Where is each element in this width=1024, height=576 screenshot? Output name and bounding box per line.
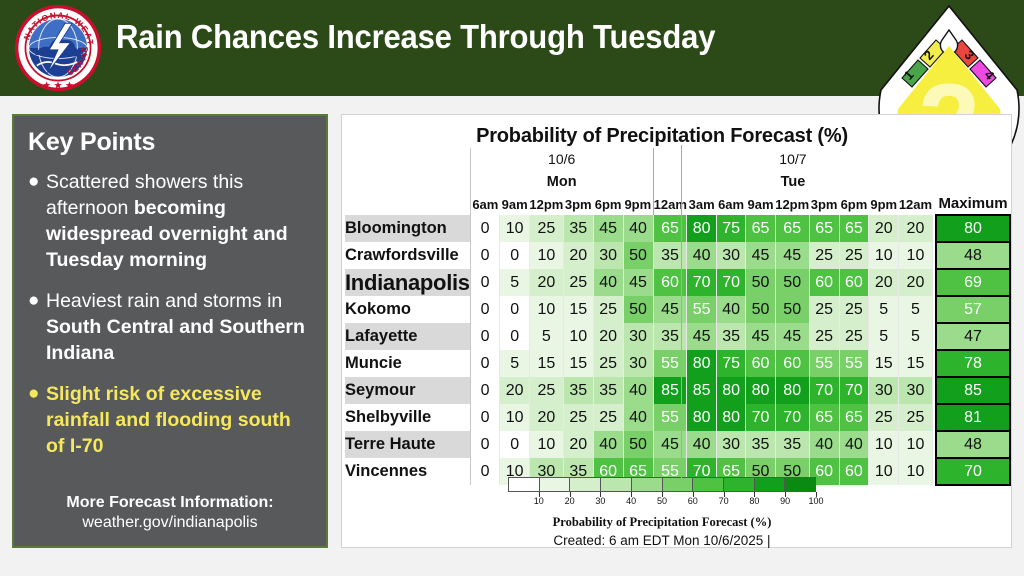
hour-header-6pm: 6pm: [593, 193, 623, 215]
pop-cell: 25: [593, 350, 623, 377]
table-row: Muncie051515253055807560605555151578: [345, 350, 1010, 377]
pop-cell: 25: [839, 242, 869, 269]
city-label-lafayette: Lafayette: [345, 323, 470, 350]
pop-cell: 85: [687, 377, 716, 404]
pop-cell: 0: [500, 296, 529, 323]
hour-header-3am: 3am: [687, 193, 716, 215]
hour-header-3pm: 3pm: [809, 193, 839, 215]
pop-cell: 5: [529, 323, 563, 350]
city-label-indianapolis: Indianapolis: [345, 269, 470, 296]
colorbar-swatch-10: [540, 478, 571, 491]
city-label-shelbyville: Shelbyville: [345, 404, 470, 431]
pop-cell: 10: [529, 431, 563, 458]
pop-cell: 60: [839, 269, 869, 296]
pop-cell: 40: [623, 377, 653, 404]
pop-cell: 0: [470, 242, 500, 269]
pop-cell: 50: [623, 431, 653, 458]
pop-cell: 45: [746, 242, 775, 269]
colorbar-swatch-30: [601, 478, 632, 491]
hour-header-6pm: 6pm: [839, 193, 869, 215]
pop-cell: 30: [593, 242, 623, 269]
created-timestamp: Created: 6 am EDT Mon 10/6/2025 |: [342, 533, 982, 548]
colorbar-swatch-80: [755, 478, 786, 491]
hour-header-12am: 12am: [899, 193, 933, 215]
pop-cell: 0: [500, 431, 529, 458]
pop-cell: 20: [869, 215, 899, 242]
pop-cell: 35: [563, 215, 593, 242]
key-point-text: Scattered showers this afternoon becomin…: [46, 169, 312, 273]
pop-table-title: Probability of Precipitation Forecast (%…: [342, 125, 982, 148]
colorbar-ticks: 102030405060708090100: [508, 492, 816, 506]
pop-cell: 40: [593, 431, 623, 458]
pop-cell: 45: [746, 323, 775, 350]
key-points-footer: More Forecast Information: weather.gov/i…: [14, 494, 326, 532]
pop-cell: 15: [529, 350, 563, 377]
colorbar-section: 102030405060708090100 Probability of Pre…: [342, 477, 982, 548]
pop-cell: 35: [563, 377, 593, 404]
pop-cell: 10: [869, 242, 899, 269]
pop-cell: 60: [809, 269, 839, 296]
pop-cell: 50: [775, 269, 809, 296]
pop-cell: 10: [563, 323, 593, 350]
pop-cell: 65: [775, 215, 809, 242]
pop-table-head: 10/610/7 MonTue 6am9am12pm3pm6pm9pm12am3…: [345, 148, 1010, 215]
pop-cell: 50: [746, 269, 775, 296]
pop-cell: 40: [716, 296, 745, 323]
pop-cell: 40: [839, 431, 869, 458]
key-point-item: ●Scattered showers this afternoon becomi…: [28, 169, 312, 273]
day-name-header: Tue: [653, 170, 932, 193]
pop-cell: 75: [716, 215, 745, 242]
day-divider-line: [681, 145, 682, 485]
pop-cell: 65: [839, 404, 869, 431]
pop-cell: 20: [593, 323, 623, 350]
weather-gov-link[interactable]: weather.gov/indianapolis: [14, 514, 326, 532]
pop-cell: 45: [775, 242, 809, 269]
pop-cell: 80: [687, 350, 716, 377]
pop-cell: 10: [500, 215, 529, 242]
pop-cell: 0: [500, 242, 529, 269]
header-row-dates: 10/610/7: [345, 148, 1010, 170]
table-row: Seymour0202535354085858080807070303085: [345, 377, 1010, 404]
pop-cell: 45: [687, 323, 716, 350]
colorbar-tick-30: 30: [595, 496, 605, 506]
pop-cell: 15: [563, 296, 593, 323]
pop-cell: 25: [839, 323, 869, 350]
maximum-cell: 48: [936, 242, 1010, 269]
hour-header-12pm: 12pm: [529, 193, 563, 215]
header-row-daynames: MonTue: [345, 170, 1010, 193]
colorbar-tick-20: 20: [565, 496, 575, 506]
maximum-cell: 57: [936, 296, 1010, 323]
pop-cell: 0: [470, 431, 500, 458]
pop-cell: 10: [899, 242, 933, 269]
pop-cell: 5: [869, 296, 899, 323]
table-corner-cell: [345, 170, 470, 193]
pop-table-body: Bloomington01025354540658075656565652020…: [345, 215, 1010, 485]
pop-cell: 35: [746, 431, 775, 458]
pop-cell: 25: [899, 404, 933, 431]
maximum-cell: 47: [936, 323, 1010, 350]
pop-cell: 80: [716, 404, 745, 431]
pop-cell: 25: [839, 296, 869, 323]
colorbar-swatch-90: [785, 478, 815, 491]
pop-cell: 80: [775, 377, 809, 404]
pop-cell: 55: [809, 350, 839, 377]
header-row-hours: 6am9am12pm3pm6pm9pm12am3am6am9am12pm3pm6…: [345, 193, 1010, 215]
key-points-title: Key Points: [28, 128, 312, 157]
more-forecast-information-label: More Forecast Information:: [14, 494, 326, 512]
pop-cell: 50: [775, 296, 809, 323]
bullet-icon: ●: [28, 288, 46, 366]
pop-cell: 20: [529, 269, 563, 296]
colorbar-tick-50: 50: [657, 496, 667, 506]
hour-header-9pm: 9pm: [869, 193, 899, 215]
pop-cell: 35: [593, 377, 623, 404]
city-label-crawfordsville: Crawfordsville: [345, 242, 470, 269]
pop-cell: 30: [899, 377, 933, 404]
maximum-cell: 78: [936, 350, 1010, 377]
pop-cell: 15: [899, 350, 933, 377]
day-name-header: Mon: [470, 170, 653, 193]
pop-cell: 0: [470, 350, 500, 377]
hour-header-9am: 9am: [500, 193, 529, 215]
maximum-cell: 48: [936, 431, 1010, 458]
pop-cell: 30: [623, 350, 653, 377]
key-point-text: Slight risk of excessive rainfall and fl…: [46, 381, 312, 459]
key-points-panel: Key Points ●Scattered showers this after…: [12, 114, 328, 548]
pop-cell: 60: [746, 350, 775, 377]
day-date-header: 10/7: [653, 148, 932, 170]
pop-cell: 80: [746, 377, 775, 404]
bullet-icon: ●: [28, 169, 46, 273]
pop-cell: 5: [899, 323, 933, 350]
pop-cell: 80: [687, 215, 716, 242]
pop-cell: 55: [839, 350, 869, 377]
pop-cell: 45: [775, 323, 809, 350]
pop-cell: 5: [500, 350, 529, 377]
pop-cell: 80: [687, 404, 716, 431]
table-row: Terre Haute00102040504540303535404010104…: [345, 431, 1010, 458]
pop-cell: 5: [899, 296, 933, 323]
pop-cell: 30: [869, 377, 899, 404]
pop-cell: 25: [529, 377, 563, 404]
pop-cell: 20: [529, 404, 563, 431]
pop-grid: 10/610/7 MonTue 6am9am12pm3pm6pm9pm12am3…: [345, 148, 1011, 486]
pop-cell: 55: [687, 296, 716, 323]
hour-header-9pm: 9pm: [623, 193, 653, 215]
colorbar-swatch-0: [509, 478, 540, 491]
pop-cell: 50: [623, 296, 653, 323]
colorbar-tick-70: 70: [719, 496, 729, 506]
pop-cell: 5: [500, 269, 529, 296]
pop-cell: 30: [716, 242, 745, 269]
pop-cell: 70: [746, 404, 775, 431]
colorbar-tick-80: 80: [749, 496, 759, 506]
pop-cell: 20: [869, 269, 899, 296]
key-points-list: ●Scattered showers this afternoon becomi…: [28, 169, 312, 459]
pop-cell: 20: [899, 269, 933, 296]
key-point-emphasis: becoming widespread overnight and Tuesda…: [46, 197, 288, 271]
maximum-header-spacer: [936, 170, 1010, 193]
colorbar-swatch-50: [663, 478, 694, 491]
pop-cell: 40: [809, 431, 839, 458]
pop-cell: 45: [623, 269, 653, 296]
nws-logo-icon: NATIONAL WEATHER SERVICE: [12, 4, 104, 92]
pop-cell: 75: [716, 350, 745, 377]
colorbar-tick-90: 90: [780, 496, 790, 506]
hour-header-3pm: 3pm: [563, 193, 593, 215]
maximum-cell: 80: [936, 215, 1010, 242]
pop-cell: 70: [775, 404, 809, 431]
table-row: Kokomo0010152550455540505025255557: [345, 296, 1010, 323]
pop-cell: 10: [529, 242, 563, 269]
colorbar-label: Probability of Precipitation Forecast (%…: [342, 515, 982, 530]
pop-cell: 10: [869, 431, 899, 458]
pop-cell: 25: [593, 296, 623, 323]
city-column-header: [345, 193, 470, 215]
pop-cell: 25: [809, 242, 839, 269]
pop-cell: 10: [529, 296, 563, 323]
key-point-emphasis: South Central and Southern Indiana: [46, 316, 305, 364]
pop-cell: 25: [809, 296, 839, 323]
pop-cell: 70: [687, 269, 716, 296]
pop-cell: 65: [809, 215, 839, 242]
hour-header-12pm: 12pm: [775, 193, 809, 215]
pop-table: 10/610/7 MonTue 6am9am12pm3pm6pm9pm12am3…: [345, 148, 1011, 486]
pop-cell: 25: [869, 404, 899, 431]
table-row: Crawfordsville00102030503540304545252510…: [345, 242, 1010, 269]
pop-cell: 35: [716, 323, 745, 350]
colorbar-swatch-20: [570, 478, 601, 491]
key-point-emphasis: Slight risk of excessive rainfall and fl…: [46, 383, 291, 457]
pop-cell: 0: [470, 377, 500, 404]
pop-cell: 25: [809, 323, 839, 350]
hour-header-6am: 6am: [716, 193, 745, 215]
pop-cell: 25: [563, 269, 593, 296]
pop-cell: 80: [716, 377, 745, 404]
hour-header-9am: 9am: [746, 193, 775, 215]
colorbar-swatch-40: [632, 478, 663, 491]
table-corner-cell: [345, 148, 470, 170]
pop-cell: 0: [470, 404, 500, 431]
pop-cell: 25: [593, 404, 623, 431]
pop-cell: 70: [839, 377, 869, 404]
pop-cell: 40: [623, 404, 653, 431]
city-label-seymour: Seymour: [345, 377, 470, 404]
table-row: Bloomington01025354540658075656565652020…: [345, 215, 1010, 242]
city-label-muncie: Muncie: [345, 350, 470, 377]
pop-cell: 5: [869, 323, 899, 350]
pop-cell: 15: [869, 350, 899, 377]
pop-cell: 20: [563, 242, 593, 269]
pop-cell: 40: [687, 431, 716, 458]
pop-cell: 25: [563, 404, 593, 431]
pop-cell: 20: [500, 377, 529, 404]
colorbar-tick-100: 100: [808, 496, 823, 506]
day-date-header: 10/6: [470, 148, 653, 170]
pop-cell: 25: [529, 215, 563, 242]
pop-cell: 0: [470, 296, 500, 323]
colorbar-tick-40: 40: [626, 496, 636, 506]
colorbar-gradient: [508, 477, 816, 492]
pop-cell: 0: [470, 215, 500, 242]
maximum-header-spacer: [936, 148, 1010, 170]
pop-cell: 65: [746, 215, 775, 242]
pop-cell: 40: [623, 215, 653, 242]
pop-cell: 40: [593, 269, 623, 296]
pop-cell: 20: [899, 215, 933, 242]
pop-cell: 60: [775, 350, 809, 377]
city-label-kokomo: Kokomo: [345, 296, 470, 323]
pop-cell: 15: [563, 350, 593, 377]
page-title: Rain Chances Increase Through Tuesday: [116, 18, 715, 56]
maximum-cell: 81: [936, 404, 1010, 431]
pop-cell: 70: [809, 377, 839, 404]
key-point-item: ●Heaviest rain and storms in South Centr…: [28, 288, 312, 366]
maximum-cell: 85: [936, 377, 1010, 404]
pop-cell: 30: [623, 323, 653, 350]
pop-cell: 30: [716, 431, 745, 458]
pop-cell: 45: [593, 215, 623, 242]
city-label-terre-haute: Terre Haute: [345, 431, 470, 458]
pop-cell: 0: [470, 323, 500, 350]
key-point-text: Heaviest rain and storms in South Centra…: [46, 288, 312, 366]
pop-cell: 10: [899, 431, 933, 458]
maximum-column-header: Maximum: [936, 193, 1010, 215]
slide-root: NATIONAL WEATHER SERVICE Rain Chances In…: [0, 0, 1024, 576]
colorbar-tick-60: 60: [688, 496, 698, 506]
pop-cell: 70: [716, 269, 745, 296]
colorbar-swatch-70: [724, 478, 755, 491]
pop-cell: 10: [500, 404, 529, 431]
pop-cell: 0: [470, 269, 500, 296]
colorbar-tick-10: 10: [534, 496, 544, 506]
key-point-item: ●Slight risk of excessive rainfall and f…: [28, 381, 312, 459]
maximum-cell: 69: [936, 269, 1010, 296]
pop-cell: 0: [500, 323, 529, 350]
pop-cell: 40: [687, 242, 716, 269]
table-row: Shelbyville01020252540558080707065652525…: [345, 404, 1010, 431]
pop-cell: 35: [775, 431, 809, 458]
bullet-icon: ●: [28, 381, 46, 459]
pop-cell: 50: [623, 242, 653, 269]
pop-table-panel: Probability of Precipitation Forecast (%…: [341, 114, 1012, 548]
table-row: Lafayette005102030354535454525255547: [345, 323, 1010, 350]
pop-cell: 20: [563, 431, 593, 458]
city-label-bloomington: Bloomington: [345, 215, 470, 242]
pop-cell: 65: [839, 215, 869, 242]
pop-cell: 50: [746, 296, 775, 323]
pop-cell: 65: [809, 404, 839, 431]
hour-header-6am: 6am: [470, 193, 500, 215]
colorbar-swatch-60: [693, 478, 724, 491]
table-row: Indianapolis0520254045607070505060602020…: [345, 269, 1010, 296]
header-bar: NATIONAL WEATHER SERVICE Rain Chances In…: [0, 0, 1024, 96]
